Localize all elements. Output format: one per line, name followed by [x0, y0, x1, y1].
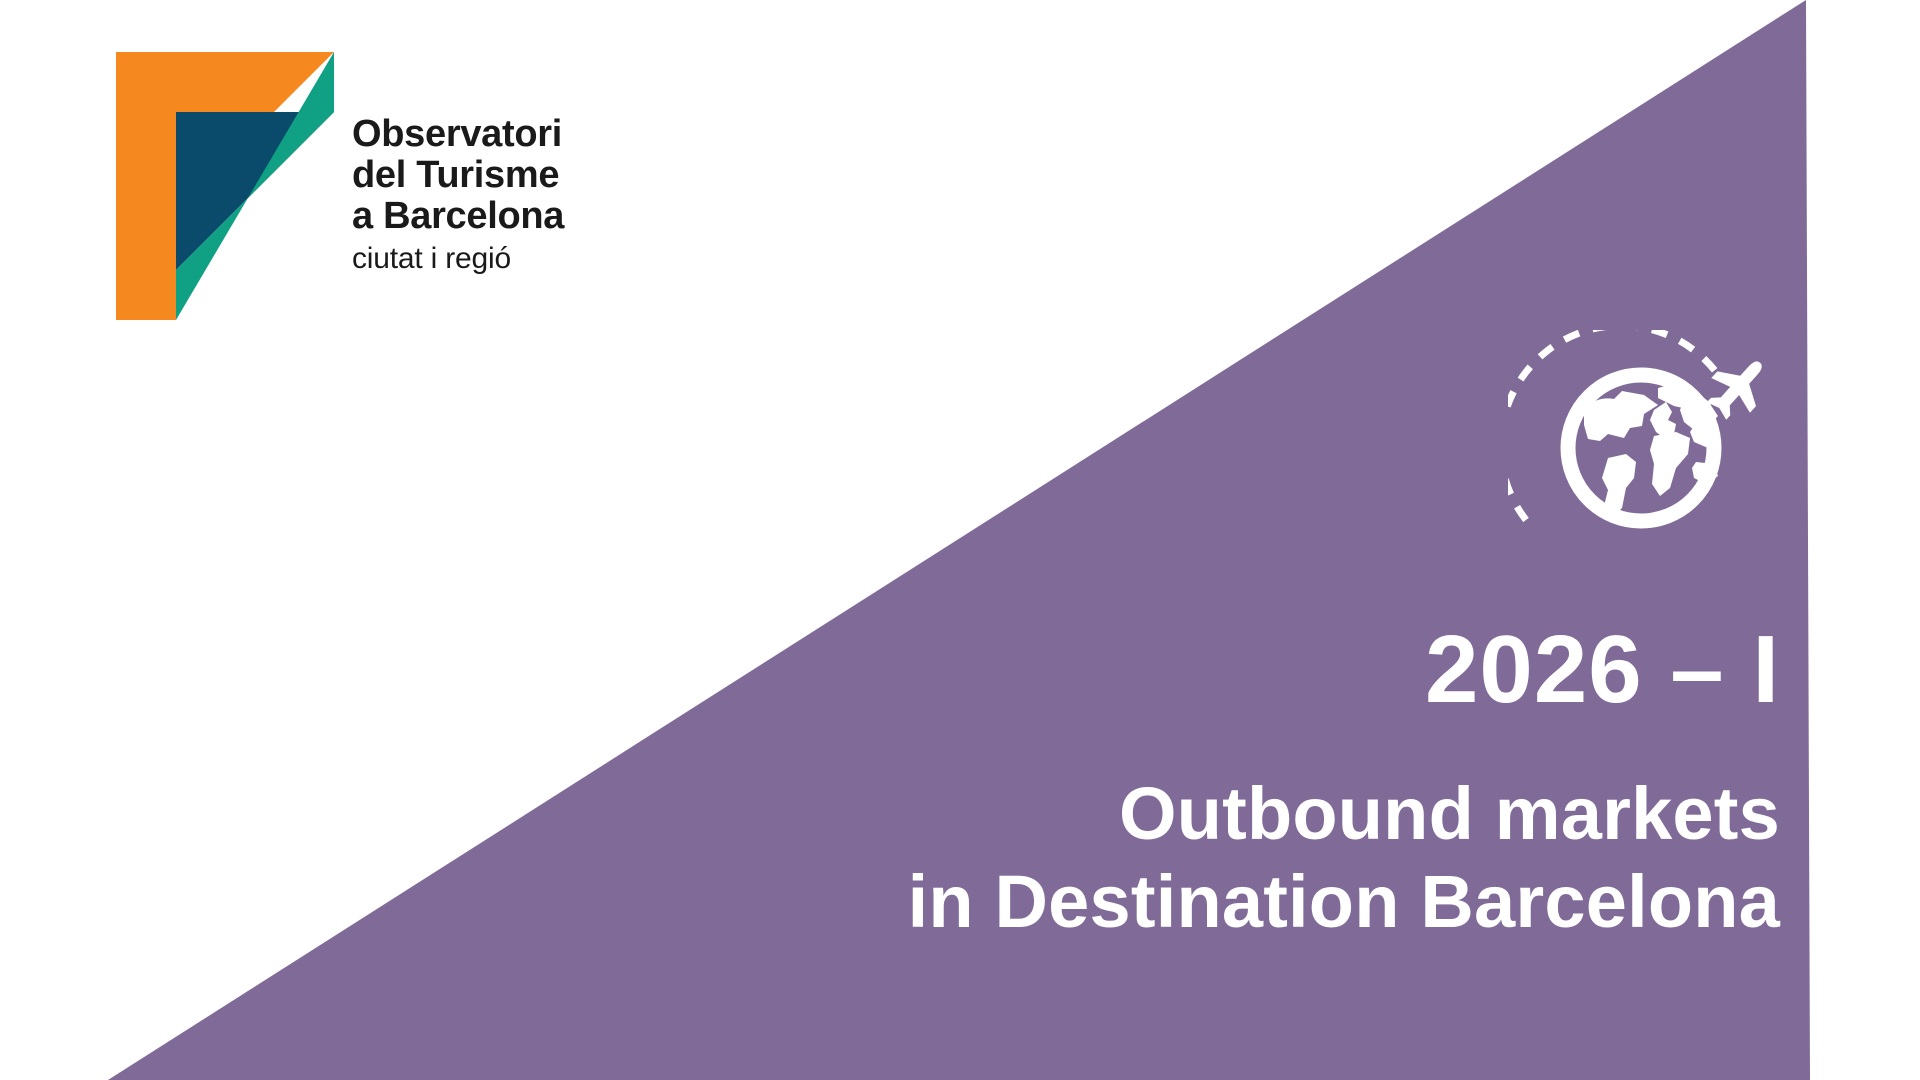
- wordmark-line-3: a Barcelona: [352, 196, 564, 237]
- observatori-arrow-mark-icon: [116, 52, 334, 320]
- edition-label: 2026 – I: [680, 618, 1780, 722]
- wordmark-line-2: del Turisme: [352, 155, 564, 196]
- cover-titles: 2026 – I Outbound markets in Destination…: [680, 618, 1780, 946]
- logo: Observatori del Turisme a Barcelona ciut…: [116, 52, 564, 320]
- wordmark-line-1: Observatori: [352, 114, 564, 155]
- logo-tagline: ciutat i regió: [352, 241, 564, 277]
- cover-page: Observatori del Turisme a Barcelona ciut…: [0, 0, 1920, 1080]
- page-title-line-1: Outbound markets: [680, 770, 1780, 858]
- page-title-line-2: in Destination Barcelona: [680, 858, 1780, 946]
- page-title: Outbound markets in Destination Barcelon…: [680, 770, 1780, 946]
- logo-wordmark: Observatori del Turisme a Barcelona ciut…: [352, 114, 564, 277]
- globe-travel-icon: [1508, 330, 1780, 530]
